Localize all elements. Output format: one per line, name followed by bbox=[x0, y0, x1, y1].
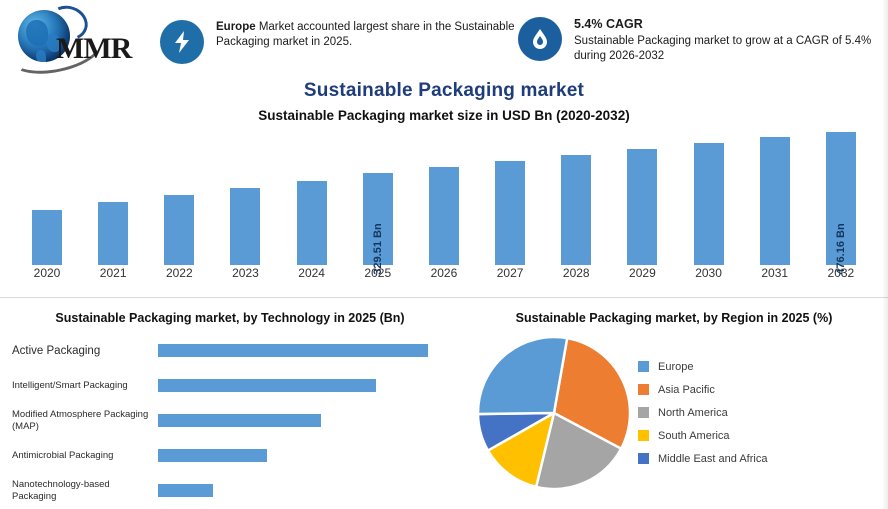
technology-row-label: Nanotechnology-based Packaging bbox=[0, 479, 158, 503]
bar bbox=[429, 167, 459, 265]
legend-swatch bbox=[638, 361, 649, 372]
legend-item: South America bbox=[638, 424, 767, 447]
bar-x-tick: 2028 bbox=[543, 266, 609, 280]
bar-column: 329.51 Bn bbox=[345, 130, 411, 265]
bar-x-tick: 2020 bbox=[14, 266, 80, 280]
legend-item: Asia Pacific bbox=[638, 378, 767, 401]
bar-x-tick: 2021 bbox=[80, 266, 146, 280]
logo-text: MMR bbox=[56, 32, 131, 66]
technology-bar-track bbox=[158, 473, 460, 508]
bar: 476.16 Bn bbox=[826, 132, 856, 265]
bar-series: 329.51 Bn476.16 Bn bbox=[14, 130, 874, 265]
market-size-bar-chart: 329.51 Bn476.16 Bn 202020212022202320242… bbox=[0, 130, 888, 290]
header-stat-europe: Europe Market accounted largest share in… bbox=[160, 10, 518, 64]
bar-x-tick: 2031 bbox=[742, 266, 808, 280]
legend-label: Europe bbox=[658, 361, 693, 373]
legend-swatch bbox=[638, 430, 649, 441]
bar bbox=[230, 188, 260, 265]
bar-column bbox=[543, 130, 609, 265]
technology-bar-track bbox=[158, 368, 460, 403]
bar-x-tick: 2032 bbox=[808, 266, 874, 280]
bar bbox=[495, 161, 525, 265]
technology-bar bbox=[158, 344, 428, 357]
bar-column bbox=[411, 130, 477, 265]
bar bbox=[561, 155, 591, 265]
technology-bar bbox=[158, 379, 376, 392]
bar: 329.51 Bn bbox=[363, 173, 393, 265]
bar-column bbox=[14, 130, 80, 265]
bar-column: 476.16 Bn bbox=[808, 130, 874, 265]
technology-bar-list: Active PackagingIntelligent/Smart Packag… bbox=[0, 333, 460, 508]
bar bbox=[627, 149, 657, 265]
technology-panel-title: Sustainable Packaging market, by Technol… bbox=[0, 303, 460, 325]
legend-swatch bbox=[638, 384, 649, 395]
bar-column bbox=[477, 130, 543, 265]
region-panel: Sustainable Packaging market, by Region … bbox=[460, 303, 888, 509]
bar-column bbox=[212, 130, 278, 265]
bar-x-tick: 2024 bbox=[279, 266, 345, 280]
legend-label: North America bbox=[658, 407, 728, 419]
technology-row-label: Active Packaging bbox=[0, 345, 158, 357]
technology-bar-track bbox=[158, 403, 460, 438]
legend-item: Middle East and Africa bbox=[638, 447, 767, 470]
bar-column bbox=[279, 130, 345, 265]
header-stat-cagr-text: 5.4% CAGR Sustainable Packaging market t… bbox=[574, 17, 874, 64]
water-drop-icon bbox=[518, 17, 562, 61]
bar bbox=[98, 202, 128, 265]
bar bbox=[760, 137, 790, 265]
legend-label: South America bbox=[658, 430, 730, 442]
bar-x-tick: 2029 bbox=[609, 266, 675, 280]
bar-x-tick: 2026 bbox=[411, 266, 477, 280]
technology-row: Nanotechnology-based Packaging bbox=[0, 473, 460, 508]
lightning-bolt-icon bbox=[160, 20, 204, 64]
region-panel-title: Sustainable Packaging market, by Region … bbox=[460, 303, 888, 325]
technology-row-label: Antimicrobial Packaging bbox=[0, 450, 158, 462]
header-stat-europe-highlight: Europe bbox=[216, 21, 256, 33]
bar-x-tick: 2025 bbox=[345, 266, 411, 280]
region-pie-area: EuropeAsia PacificNorth AmericaSouth Ame… bbox=[460, 331, 888, 509]
bar-column bbox=[609, 130, 675, 265]
bar-column bbox=[742, 130, 808, 265]
header-stat-europe-body: Market accounted largest share in the Su… bbox=[216, 21, 515, 48]
page-title: Sustainable Packaging market bbox=[0, 80, 888, 102]
technology-panel: Sustainable Packaging market, by Technol… bbox=[0, 303, 460, 509]
infographic-page: MMR Europe Market accounted largest shar… bbox=[0, 0, 888, 509]
legend-swatch bbox=[638, 453, 649, 464]
bar-column bbox=[146, 130, 212, 265]
technology-row-label: Modified Atmosphere Packaging (MAP) bbox=[0, 409, 158, 433]
bar bbox=[164, 195, 194, 265]
technology-bar bbox=[158, 414, 321, 427]
bar-column bbox=[676, 130, 742, 265]
pie-slice bbox=[478, 337, 567, 414]
header-stat-cagr: 5.4% CAGR Sustainable Packaging market t… bbox=[518, 11, 878, 64]
technology-row: Intelligent/Smart Packaging bbox=[0, 368, 460, 403]
bar bbox=[32, 210, 62, 265]
bar-x-tick: 2030 bbox=[676, 266, 742, 280]
bar-x-tick: 2027 bbox=[477, 266, 543, 280]
technology-bar-track bbox=[158, 438, 460, 473]
technology-row: Active Packaging bbox=[0, 333, 460, 368]
legend-label: Asia Pacific bbox=[658, 384, 715, 396]
bar-x-axis-labels: 2020202120222023202420252026202720282029… bbox=[14, 266, 874, 280]
bar-column bbox=[80, 130, 146, 265]
legend-item: North America bbox=[638, 401, 767, 424]
bar-x-tick: 2022 bbox=[146, 266, 212, 280]
technology-row: Antimicrobial Packaging bbox=[0, 438, 460, 473]
bar bbox=[694, 143, 724, 265]
legend-item: Europe bbox=[638, 355, 767, 378]
header-stat-cagr-title: 5.4% CAGR bbox=[574, 17, 874, 32]
brand-logo: MMR bbox=[0, 0, 160, 74]
section-divider bbox=[0, 297, 888, 298]
header-stat-europe-text: Europe Market accounted largest share in… bbox=[216, 20, 516, 50]
bar bbox=[297, 181, 327, 265]
header: MMR Europe Market accounted largest shar… bbox=[0, 0, 888, 74]
header-stat-cagr-body: Sustainable Packaging market to grow at … bbox=[574, 35, 871, 62]
legend-label: Middle East and Africa bbox=[658, 453, 767, 465]
technology-row: Modified Atmosphere Packaging (MAP) bbox=[0, 403, 460, 438]
technology-row-label: Intelligent/Smart Packaging bbox=[0, 380, 158, 392]
technology-bar bbox=[158, 449, 267, 462]
technology-bar bbox=[158, 484, 213, 497]
legend-swatch bbox=[638, 407, 649, 418]
region-legend: EuropeAsia PacificNorth AmericaSouth Ame… bbox=[638, 355, 767, 470]
region-pie-chart bbox=[474, 333, 634, 493]
technology-bar-track bbox=[158, 333, 460, 368]
bar-x-tick: 2023 bbox=[212, 266, 278, 280]
page-subtitle: Sustainable Packaging market size in USD… bbox=[0, 108, 888, 123]
